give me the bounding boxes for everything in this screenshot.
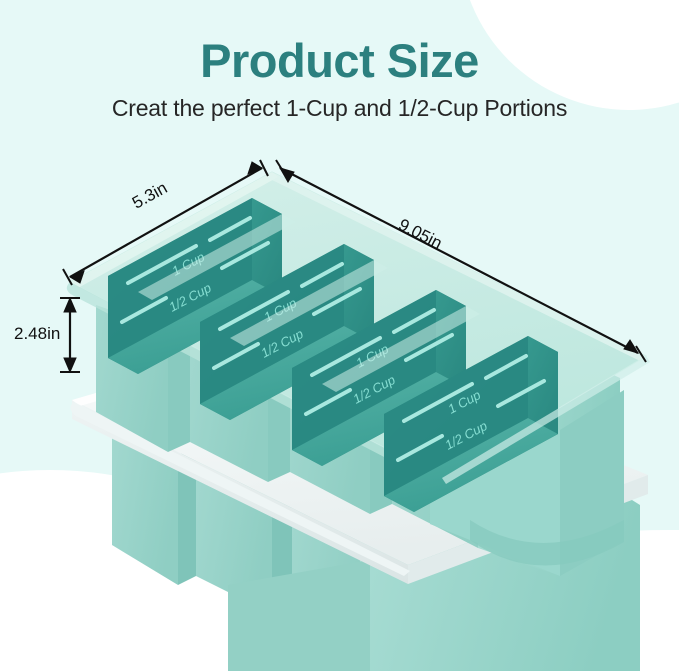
tick-length-start: [276, 160, 286, 176]
infographic-canvas: Product Size Creat the perfect 1-Cup and…: [0, 0, 679, 671]
page-subtitle: Creat the perfect 1-Cup and 1/2-Cup Port…: [0, 86, 679, 122]
arrowhead-height-bottom: [64, 358, 76, 372]
page-title: Product Size: [0, 0, 679, 86]
header: Product Size Creat the perfect 1-Cup and…: [0, 0, 679, 122]
arrowhead-height-top: [64, 298, 76, 312]
